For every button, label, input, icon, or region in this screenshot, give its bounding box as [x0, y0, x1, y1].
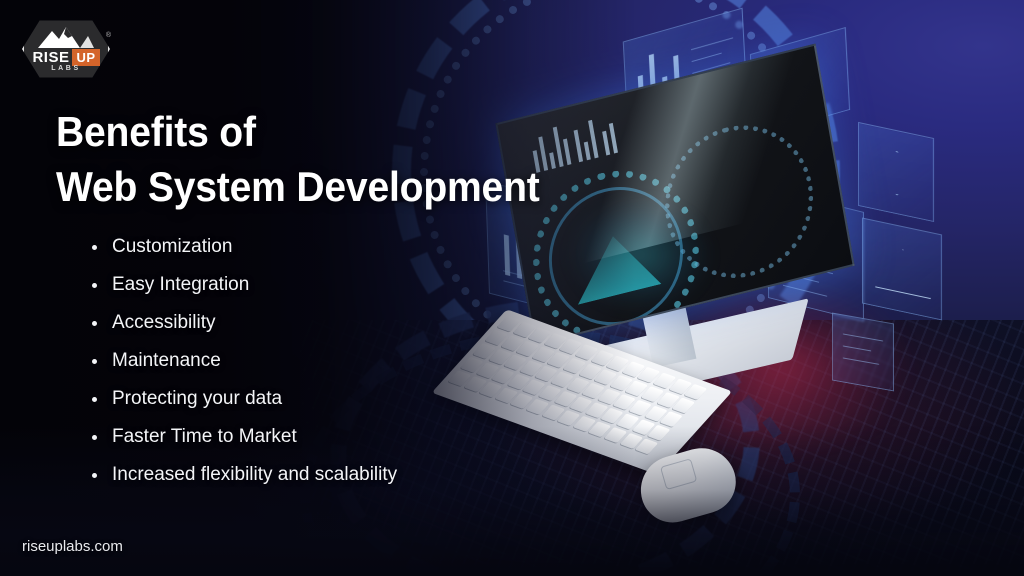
benefits-list: Customization Easy Integration Accessibi…	[92, 228, 552, 494]
website-footer: riseuplabs.com	[22, 538, 123, 555]
list-item-label: Protecting your data	[112, 388, 282, 409]
list-item-label: Easy Integration	[112, 274, 249, 295]
list-item: Customization	[92, 228, 552, 266]
mountain-peak-icon	[36, 25, 96, 49]
list-item-label: Accessibility	[112, 312, 215, 333]
bullet-dot-icon	[92, 283, 97, 288]
list-item: Protecting your data	[92, 380, 552, 418]
bullet-dot-icon	[92, 245, 97, 250]
bullet-dot-icon	[92, 435, 97, 440]
presentation-slide: RISE UP LABS ® Benefits of Web System De…	[0, 0, 1024, 576]
list-item-label: Increased flexibility and scalability	[112, 464, 397, 485]
bullet-dot-icon	[92, 473, 97, 478]
list-item-label: Customization	[112, 236, 232, 257]
list-item: Easy Integration	[92, 266, 552, 304]
logo-text-rise: RISE	[32, 49, 69, 66]
list-item-label: Faster Time to Market	[112, 426, 297, 447]
riseup-labs-logo[interactable]: RISE UP LABS ®	[22, 18, 110, 80]
registered-mark-icon: ®	[106, 32, 111, 39]
logo-text-labs: LABS	[22, 65, 110, 72]
list-item: Faster Time to Market	[92, 418, 552, 456]
logo-text-up: UP	[72, 49, 99, 66]
bullet-dot-icon	[92, 397, 97, 402]
slide-title: Benefits of Web System Development	[56, 104, 540, 215]
list-item-label: Maintenance	[112, 350, 221, 371]
list-item: Increased flexibility and scalability	[92, 456, 552, 494]
list-item: Maintenance	[92, 342, 552, 380]
bullet-dot-icon	[92, 321, 97, 326]
bullet-dot-icon	[92, 359, 97, 364]
logo-wordmark: RISE UP	[22, 49, 110, 66]
list-item: Accessibility	[92, 304, 552, 342]
